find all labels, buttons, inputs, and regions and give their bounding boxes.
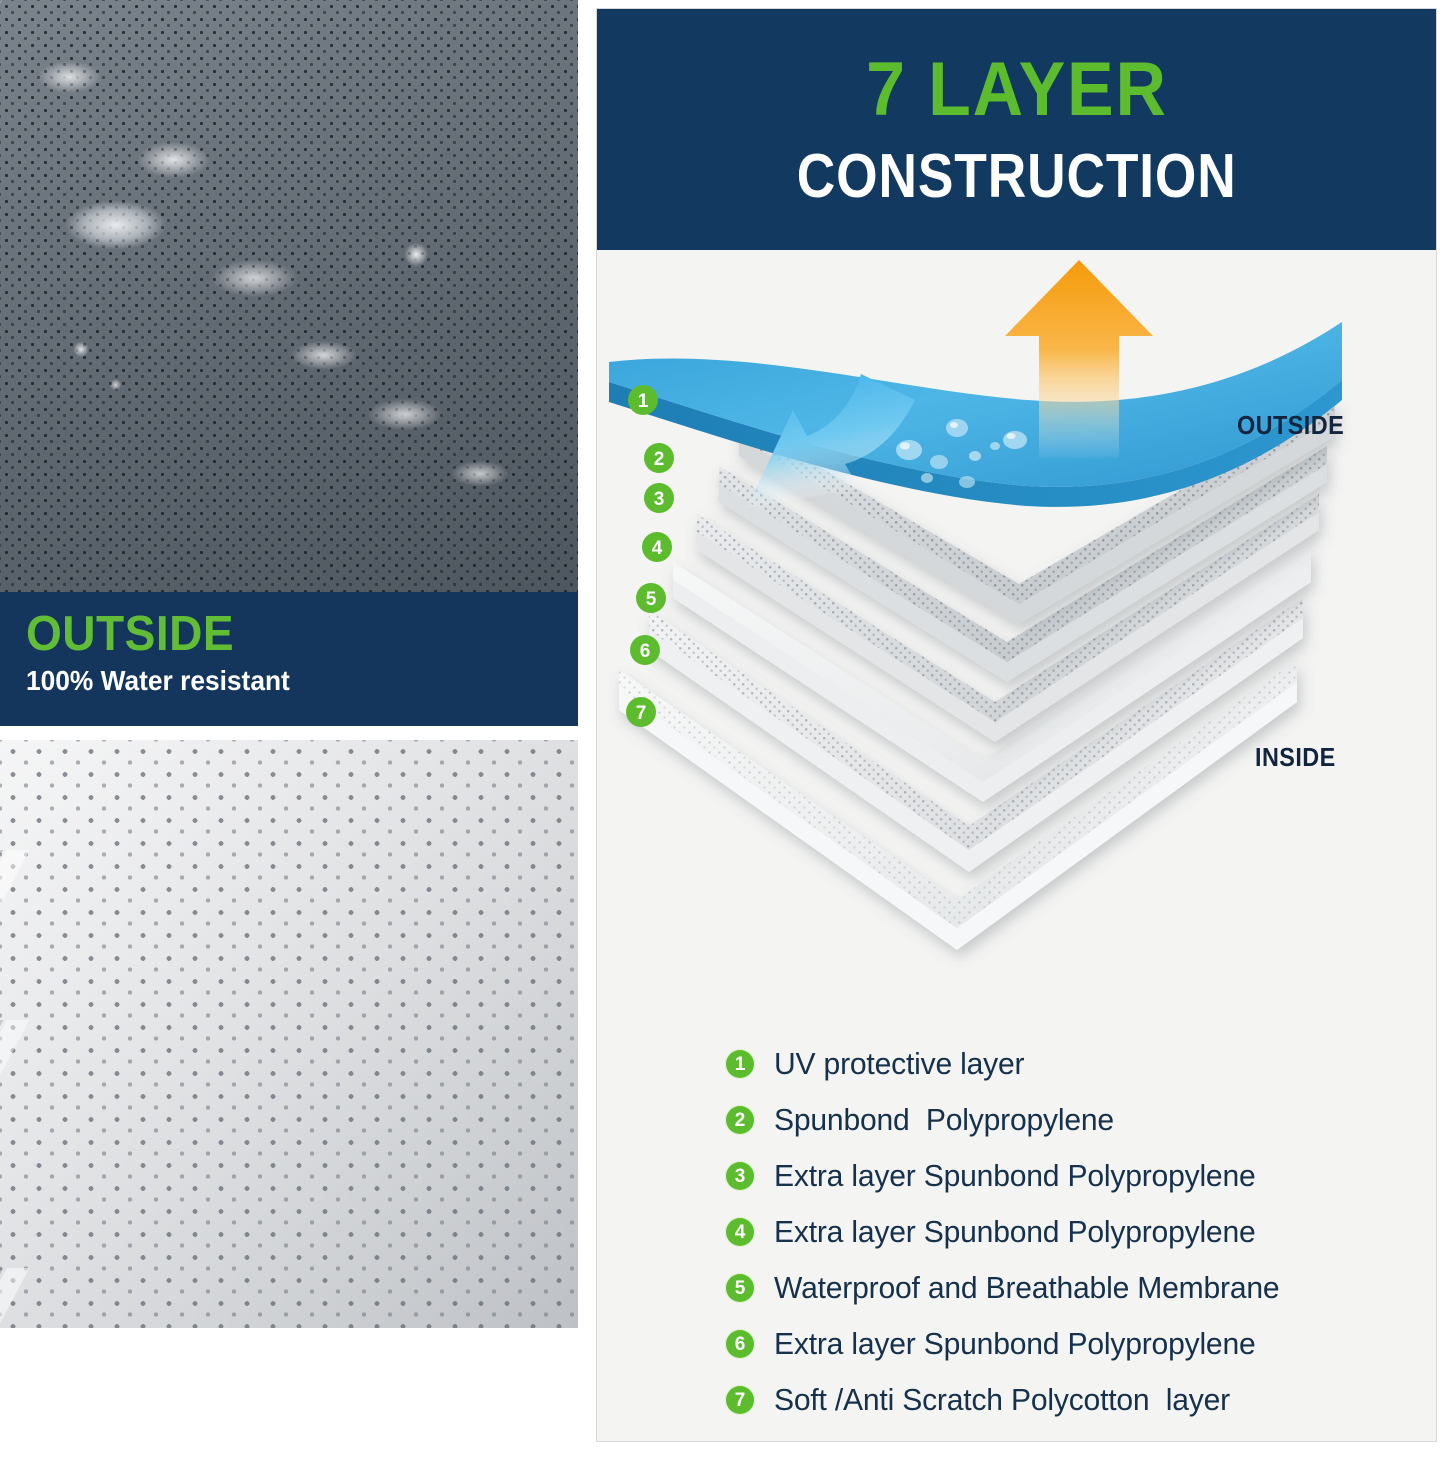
- header-title-layers: 7 LAYER: [866, 52, 1168, 128]
- svg-text:2: 2: [654, 449, 665, 470]
- legend-label: Soft /Anti Scratch Polycotton layer: [774, 1382, 1230, 1418]
- svg-text:6: 6: [640, 641, 651, 662]
- layer-marker-4: 4: [642, 532, 672, 562]
- diagram-inside-label: INSIDE: [1255, 742, 1336, 773]
- infographic-page: OUTSIDE 100% Water resistant INSIDE Soft…: [0, 0, 1445, 1468]
- svg-text:5: 5: [646, 589, 657, 610]
- legend-label: UV protective layer: [774, 1046, 1024, 1082]
- header-title-construction: CONSTRUCTION: [797, 146, 1237, 208]
- legend-label: Extra layer Spunbond Polypropylene: [774, 1326, 1256, 1362]
- layer-marker-5: 5: [636, 583, 666, 613]
- legend-number-badge: 3: [725, 1161, 755, 1191]
- svg-text:3: 3: [654, 489, 665, 510]
- inside-fabric-photo: [0, 740, 578, 1328]
- outside-caption-band: OUTSIDE 100% Water resistant: [0, 592, 578, 726]
- layer-legend-list: 1 UV protective layer 2 Spunbond Polypro…: [725, 1036, 1425, 1428]
- legend-label: Waterproof and Breathable Membrane: [774, 1270, 1279, 1306]
- water-beading-texture: [0, 0, 578, 592]
- legend-item: 6 Extra layer Spunbond Polypropylene: [725, 1316, 1425, 1372]
- legend-number-badge: 1: [725, 1049, 755, 1079]
- svg-text:1: 1: [638, 391, 649, 412]
- legend-label: Spunbond Polypropylene: [774, 1102, 1114, 1138]
- legend-item: 7 Soft /Anti Scratch Polycotton layer: [725, 1372, 1425, 1428]
- legend-number-badge: 7: [725, 1385, 755, 1415]
- legend-item: 2 Spunbond Polypropylene: [725, 1092, 1425, 1148]
- layer-marker-2: 2: [644, 443, 674, 473]
- svg-text:7: 7: [636, 703, 647, 724]
- outside-photo-card: OUTSIDE 100% Water resistant: [0, 0, 578, 726]
- outside-caption-title: OUTSIDE: [26, 610, 520, 659]
- legend-label: Extra layer Spunbond Polypropylene: [774, 1158, 1256, 1194]
- left-photo-column: OUTSIDE 100% Water resistant INSIDE Soft…: [0, 0, 578, 1468]
- layer-marker-7: 7: [626, 697, 656, 727]
- legend-number-badge: 2: [725, 1105, 755, 1135]
- legend-number-badge: 5: [725, 1273, 755, 1303]
- diagram-outside-label: OUTSIDE: [1237, 410, 1344, 441]
- svg-text:4: 4: [652, 538, 663, 559]
- layer-marker-1: 1: [628, 385, 658, 415]
- panel-body: 1 2 3 4: [597, 250, 1436, 1441]
- layer-marker-6: 6: [630, 635, 660, 665]
- outside-caption-subtitle: 100% Water resistant: [26, 666, 520, 697]
- legend-item: 5 Waterproof and Breathable Membrane: [725, 1260, 1425, 1316]
- layer-number-markers: 1 2 3 4: [626, 385, 674, 727]
- legend-item: 1 UV protective layer: [725, 1036, 1425, 1092]
- construction-panel: 7 LAYER CONSTRUCTION: [596, 8, 1437, 1442]
- layer-stack-diagram: 1 2 3 4: [597, 250, 1436, 1025]
- legend-item: 3 Extra layer Spunbond Polypropylene: [725, 1148, 1425, 1204]
- legend-number-badge: 6: [725, 1329, 755, 1359]
- legend-number-badge: 4: [725, 1217, 755, 1247]
- legend-item: 4 Extra layer Spunbond Polypropylene: [725, 1204, 1425, 1260]
- legend-label: Extra layer Spunbond Polypropylene: [774, 1214, 1256, 1250]
- outside-fabric-photo: [0, 0, 578, 592]
- inside-photo-card: INSIDE Soft lining against scratch: [0, 740, 578, 1468]
- soft-lining-texture: [0, 740, 578, 1328]
- layer-marker-3: 3: [644, 483, 674, 513]
- panel-header: 7 LAYER CONSTRUCTION: [597, 9, 1436, 250]
